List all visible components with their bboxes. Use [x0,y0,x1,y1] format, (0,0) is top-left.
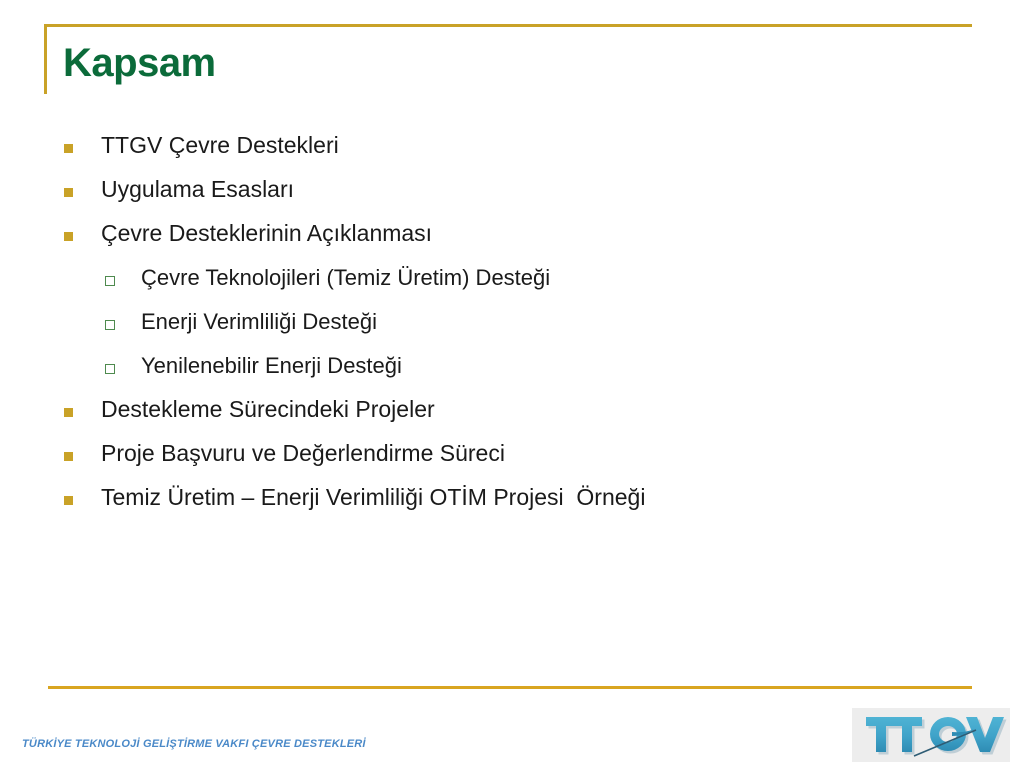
list-item[interactable]: Temiz Üretim – Enerji Verimliliği OTİM P… [64,484,964,528]
square-filled-gold-icon [64,232,73,241]
ttgv-logo-icon [852,708,1010,762]
list-item-label: Temiz Üretim – Enerji Verimliliği OTİM P… [101,486,645,509]
square-filled-gold-icon [64,144,73,153]
list-item[interactable]: Proje Başvuru ve Değerlendirme Süreci [64,440,964,484]
list-item[interactable]: Yenilenebilir Enerji Desteği [64,352,964,396]
ttgv-logo [852,708,1010,762]
list-item[interactable]: Uygulama Esasları [64,176,964,220]
title-frame-border: Kapsam [44,24,972,94]
footer-caption: TÜRKİYE TEKNOLOJİ GELİŞTİRME VAKFI ÇEVRE… [22,738,366,750]
square-hollow-green-icon [105,276,115,286]
list-item-label: Yenilenebilir Enerji Desteği [141,355,402,377]
square-filled-gold-icon [64,408,73,417]
list-item-label: Uygulama Esasları [101,178,294,201]
square-hollow-green-icon [105,364,115,374]
list-item-label: Enerji Verimliliği Desteği [141,311,377,333]
square-filled-gold-icon [64,452,73,461]
list-item[interactable]: Çevre Teknolojileri (Temiz Üretim) Deste… [64,264,964,308]
square-hollow-green-icon [105,320,115,330]
list-item-label: TTGV Çevre Destekleri [101,134,339,157]
list-item[interactable]: TTGV Çevre Destekleri [64,132,964,176]
list-item-label: Proje Başvuru ve Değerlendirme Süreci [101,442,505,465]
page-title: Kapsam [63,41,216,86]
list-item[interactable]: Çevre Desteklerinin Açıklanması [64,220,964,264]
square-filled-gold-icon [64,496,73,505]
list-item-label: Çevre Teknolojileri (Temiz Üretim) Deste… [141,267,550,289]
list-item[interactable]: Destekleme Sürecindeki Projeler [64,396,964,440]
footer-divider [48,686,972,689]
list-item-label: Destekleme Sürecindeki Projeler [101,398,435,421]
list-item-label: Çevre Desteklerinin Açıklanması [101,222,432,245]
list-item[interactable]: Enerji Verimliliği Desteği [64,308,964,352]
square-filled-gold-icon [64,188,73,197]
outline-list: TTGV Çevre Destekleri Uygulama Esasları … [64,132,964,528]
slide: Kapsam TTGV Çevre Destekleri Uygulama Es… [0,0,1024,768]
